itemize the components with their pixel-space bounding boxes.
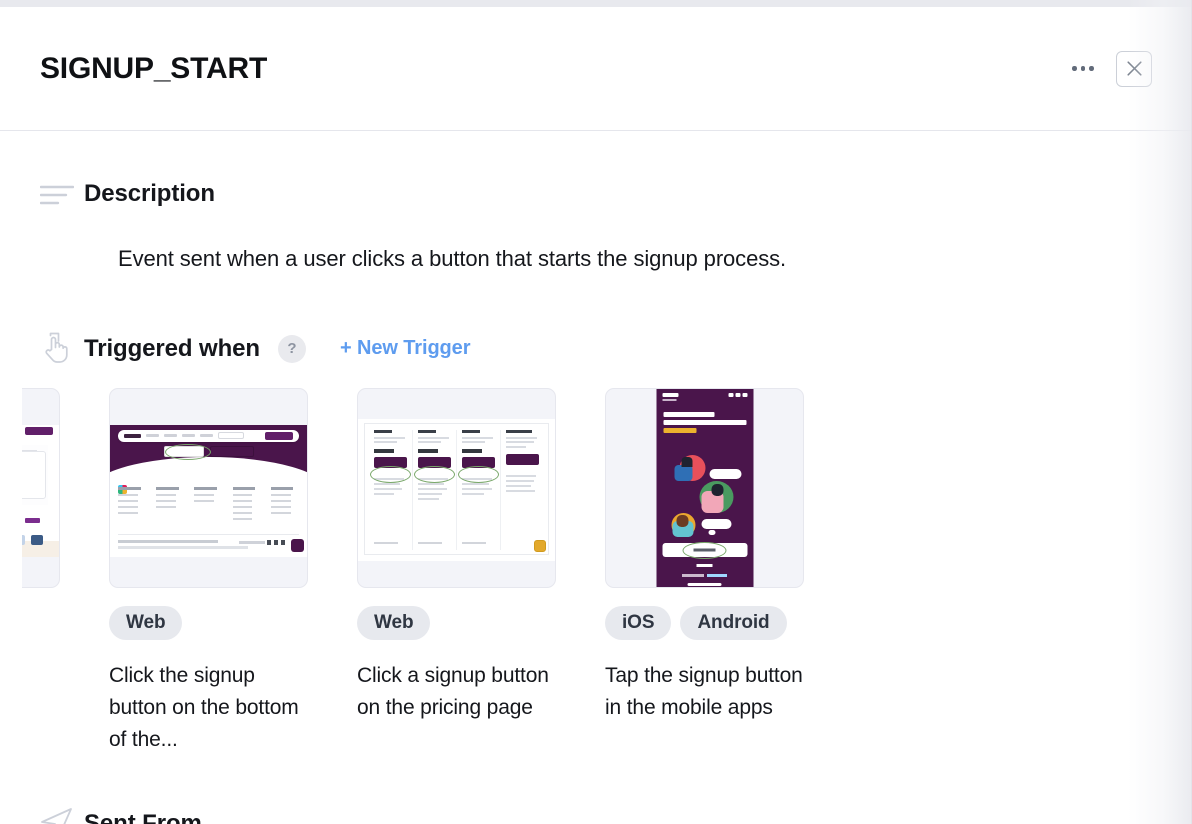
mini-social-icon <box>281 540 285 545</box>
close-button[interactable] <box>1116 51 1152 87</box>
annotation-highlight-ring <box>458 466 499 483</box>
trigger-caption: Tap the signup button in the mobile apps <box>605 660 805 724</box>
mini-plan-column <box>457 430 501 550</box>
mini-column-head <box>118 487 141 490</box>
mini-headline-line <box>663 412 714 417</box>
mini-feature-bullet <box>506 485 531 487</box>
kebab-dot <box>1081 66 1086 71</box>
mini-column-item <box>233 518 253 521</box>
mini-feature-bullet <box>462 488 492 490</box>
new-trigger-button[interactable]: + New Trigger <box>340 337 470 360</box>
mini-column-item <box>118 506 138 509</box>
trigger-card[interactable]: Web Click the signup button in the top n… <box>22 388 109 756</box>
mini-plan-desc <box>462 437 493 439</box>
mini-logo <box>124 434 141 438</box>
annotation-highlight-ring <box>414 466 455 483</box>
trigger-caption: Click the signup button on the bottom of… <box>109 660 309 756</box>
trigger-cards-strip[interactable]: Web Click the signup button in a feature… <box>22 388 1192 768</box>
mini-home-indicator <box>688 583 722 586</box>
mini-column-item <box>118 512 138 515</box>
mini-column-item <box>118 500 138 503</box>
mini-plan-desc <box>374 441 397 443</box>
mini-plan-title <box>462 430 480 433</box>
mini-column-item <box>271 512 291 515</box>
trigger-card[interactable]: Web Click the signup button on the botto… <box>109 388 357 756</box>
mini-column-item <box>271 494 291 497</box>
mini-signin-link <box>697 564 713 567</box>
event-detail-panel: SIGNUP_START <box>0 0 1192 824</box>
sent-from-section-header: Sent From <box>40 806 202 824</box>
mini-avatar-hair <box>711 484 723 496</box>
mini-footer-columns <box>118 487 299 524</box>
panel-header: SIGNUP_START <box>0 7 1192 131</box>
mini-feature-bullet <box>418 498 439 500</box>
mini-footer-column <box>156 487 184 524</box>
description-icon-slot <box>40 181 84 207</box>
mini-plan-price <box>374 449 394 453</box>
mini-chat-bubble <box>701 519 731 529</box>
description-body-text: Event sent when a user clicks a button t… <box>118 244 1192 274</box>
mini-feature-bullet <box>506 490 535 492</box>
description-title: Description <box>84 180 215 208</box>
description-lines-icon <box>40 183 74 207</box>
mini-feature-bullet <box>374 488 402 490</box>
trigger-caption: Click a signup button on the pricing pag… <box>357 660 557 724</box>
annotation-highlight-ring <box>683 542 727 559</box>
mini-feature-bullet <box>374 483 400 485</box>
annotation-highlight-ring <box>165 444 211 460</box>
mini-status-time <box>662 393 678 397</box>
sent-from-title: Sent From <box>84 810 202 824</box>
trigger-platform-badges: iOS Android <box>605 606 835 640</box>
mini-secondary-cta <box>218 432 244 439</box>
mini-pricing-frame <box>364 423 549 555</box>
mini-primary-cta <box>25 427 53 435</box>
mini-footer-signup-button <box>210 446 254 457</box>
mini-headline-line <box>663 420 746 425</box>
mini-footer-column <box>233 487 261 524</box>
mini-signal-icon <box>728 393 733 397</box>
trigger-thumbnail[interactable] <box>605 388 804 588</box>
mini-partner-logo <box>25 518 40 523</box>
mini-headline-accent <box>663 428 696 433</box>
mini-plan-title <box>418 430 436 433</box>
mini-contact-button <box>506 454 539 465</box>
trigger-card[interactable]: Web Click a signup button on the pricing… <box>357 388 605 724</box>
help-badge[interactable]: ? <box>278 335 306 363</box>
platform-badge: iOS <box>605 606 671 640</box>
mini-footnote-text <box>682 574 704 577</box>
mini-language-selector <box>239 541 265 544</box>
mini-chat-widget-button <box>534 540 546 552</box>
mini-feature-bullet <box>418 483 444 485</box>
mini-column-item <box>156 494 176 497</box>
mini-navbar <box>118 430 299 442</box>
sent-from-icon-slot <box>40 806 84 824</box>
mini-nav-link <box>182 434 195 437</box>
mini-nav-link <box>164 434 177 437</box>
mini-column-head <box>271 487 294 490</box>
triggered-when-header: Triggered when ? + New Trigger <box>40 332 1192 366</box>
mini-column-head <box>156 487 179 490</box>
description-section: Description Event sent when a user click… <box>0 132 1192 274</box>
mini-feature-bullet <box>506 480 534 482</box>
trigger-thumbnail[interactable] <box>109 388 308 588</box>
mini-feature-bullet <box>418 493 442 495</box>
mini-plan-desc <box>506 441 534 443</box>
header-actions <box>1066 51 1152 87</box>
trigger-card[interactable]: iOS Android Tap the signup button in the… <box>605 388 853 724</box>
mini-footer-column <box>118 487 146 524</box>
mini-chat-widget-button <box>291 539 304 552</box>
window-top-strip <box>0 0 1192 7</box>
pricing-page-thumbnail <box>358 419 555 561</box>
trigger-thumbnail[interactable] <box>22 388 60 588</box>
landing-page-thumbnail <box>22 425 59 557</box>
mini-battery-icon <box>742 393 747 397</box>
mini-plan-footnote <box>418 542 442 544</box>
mini-plan-column <box>501 430 544 550</box>
mini-column-item <box>194 494 214 497</box>
mini-divider <box>118 534 299 535</box>
mini-pricing-columns <box>369 430 544 550</box>
platform-badge: Android <box>680 606 786 640</box>
mini-primary-cta <box>265 432 293 440</box>
mini-logo-row <box>22 517 51 525</box>
mini-illustration-group <box>661 451 748 541</box>
platform-badge: Web <box>109 606 182 640</box>
mini-column-item <box>156 506 176 509</box>
mini-plan-desc <box>418 441 441 443</box>
mini-column-item <box>233 494 253 497</box>
more-options-button[interactable] <box>1066 52 1100 86</box>
mini-column-item <box>233 500 253 503</box>
mini-footnote-link <box>707 574 727 577</box>
mini-navbar <box>22 425 59 438</box>
page-title: SIGNUP_START <box>40 54 267 84</box>
mini-avatar-body <box>674 465 692 481</box>
mini-social-icons <box>267 540 285 545</box>
mini-column-head <box>194 487 217 490</box>
panel-body: Description Event sent when a user click… <box>0 132 1192 824</box>
mobile-app-thumbnail <box>656 389 753 588</box>
mini-nav-link <box>146 434 159 437</box>
mini-column-item <box>156 500 176 503</box>
mini-column-item <box>233 506 253 509</box>
mini-feature-bullet <box>462 493 484 495</box>
mini-plan-desc <box>374 437 405 439</box>
platform-badge: Web <box>357 606 430 640</box>
kebab-dot <box>1072 66 1077 71</box>
trigger-thumbnail[interactable] <box>357 388 556 588</box>
mini-social-icon <box>274 540 278 545</box>
triggered-when-title: Triggered when <box>84 335 260 363</box>
mini-footer-column <box>194 487 222 524</box>
annotation-highlight-ring <box>370 466 411 483</box>
mini-illustration <box>22 535 25 545</box>
trigger-platform-badges: Web <box>109 606 339 640</box>
mini-column-item <box>271 500 291 503</box>
tap-hand-icon <box>40 332 74 366</box>
mini-headline-block <box>663 412 746 436</box>
mini-floating-card <box>22 451 46 499</box>
mini-feature-bullet <box>506 475 536 477</box>
mini-plan-price <box>462 449 482 453</box>
footer-page-thumbnail <box>110 425 307 557</box>
mini-wifi-icon <box>735 393 740 397</box>
mini-plan-footnote <box>374 542 398 544</box>
mini-plan-desc <box>506 437 537 439</box>
mini-plan-title <box>506 430 532 433</box>
trigger-icon-slot <box>40 332 84 366</box>
mini-column-item <box>194 500 214 503</box>
mini-avatar-head <box>676 515 688 527</box>
mini-chat-bubble-tail <box>708 530 715 535</box>
description-header: Description <box>40 180 1192 208</box>
mini-plan-desc <box>418 437 449 439</box>
trigger-platform-badges: Web <box>22 606 91 640</box>
mini-plan-column <box>413 430 457 550</box>
mini-footer-column <box>271 487 299 524</box>
close-icon <box>1125 59 1144 78</box>
mini-column-head <box>233 487 256 490</box>
mini-legal-line <box>118 546 248 549</box>
mini-plan-footnote <box>462 542 486 544</box>
mini-feature-bullet <box>462 483 489 485</box>
kebab-dot <box>1089 66 1094 71</box>
mini-avatar-hair <box>681 457 692 467</box>
mini-plan-desc <box>462 441 485 443</box>
mini-plan-desc <box>506 446 526 448</box>
trigger-platform-badges: Web <box>357 606 587 640</box>
triggered-when-section: Triggered when ? + New Trigger <box>0 274 1192 768</box>
mini-column-item <box>233 512 253 515</box>
send-arrow-icon <box>40 806 74 824</box>
mini-column-item <box>118 494 138 497</box>
mini-nav-link <box>200 434 213 437</box>
mini-back-link <box>662 399 676 402</box>
mini-feature-bullet <box>418 488 447 490</box>
mini-column-item <box>271 506 291 509</box>
mini-plan-price <box>418 449 438 453</box>
mini-plan-title <box>374 430 392 433</box>
mini-plan-column <box>369 430 413 550</box>
mini-illustration <box>31 535 43 545</box>
mini-chat-bubble <box>709 469 741 479</box>
mini-footnote-row <box>682 574 727 577</box>
mini-status-icons <box>728 393 747 397</box>
mini-feature-bullet <box>374 493 394 495</box>
mini-social-icon <box>267 540 271 545</box>
mini-legal-line <box>118 540 218 543</box>
trigger-caption: Click the signup button in the top navig… <box>22 660 61 756</box>
